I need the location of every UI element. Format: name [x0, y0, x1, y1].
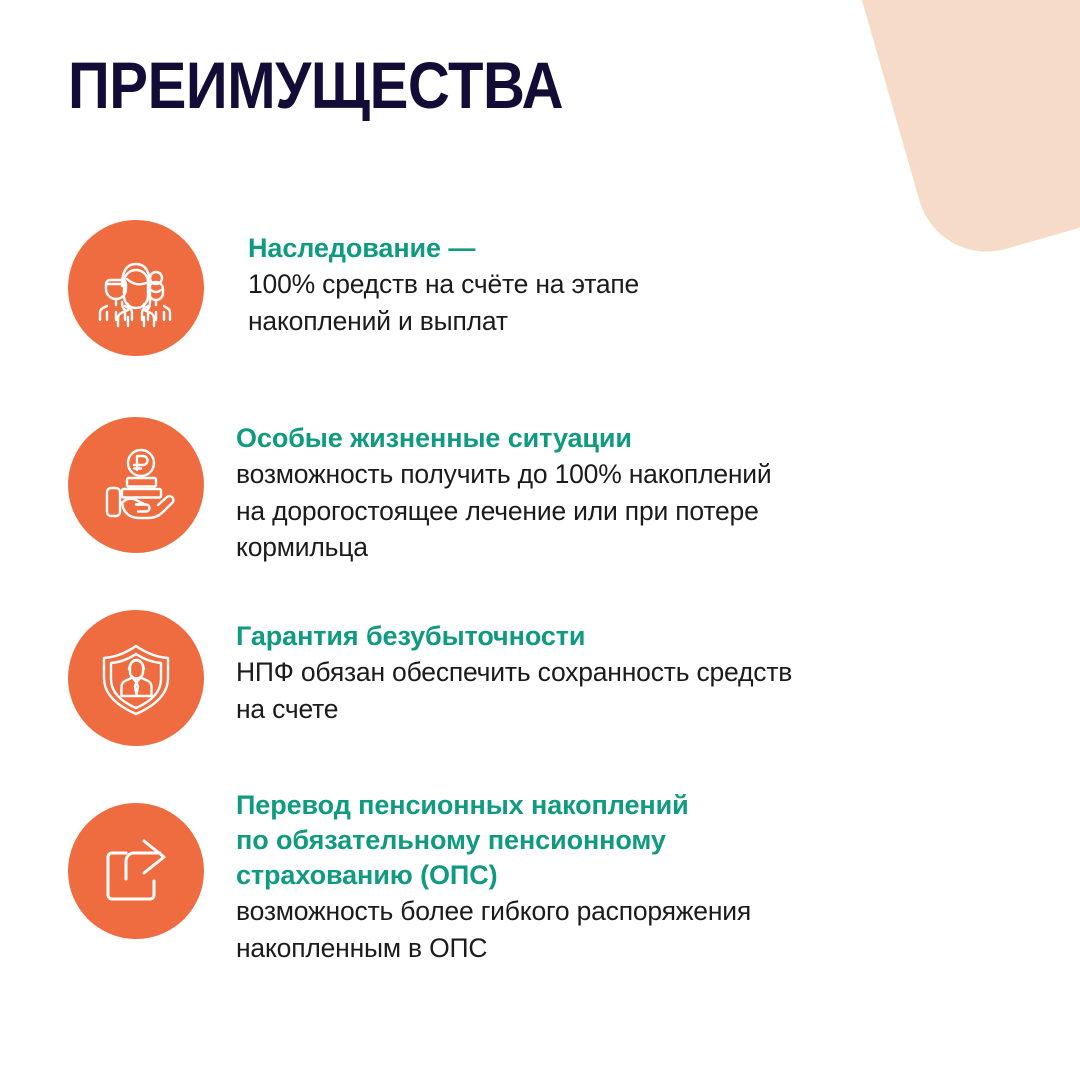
- benefit-text-transfer: Перевод пенсионных накоплений по обязате…: [236, 788, 916, 966]
- benefit-body: НПФ обязан обеспечить сохранность средст…: [236, 654, 916, 727]
- benefit-body: возможность более гибкого распоряжения н…: [236, 893, 916, 966]
- slide-canvas: ПРЕИМУЩЕСТВА: [0, 0, 1080, 1080]
- hand-holding-ruble-coins-icon: [68, 417, 204, 553]
- peach-rounded-shape: [834, 0, 1080, 268]
- export-arrow-icon: [68, 803, 204, 939]
- benefit-text-special-situations: Особые жизненные ситуации возможность по…: [236, 421, 916, 566]
- benefit-heading: Особые жизненные ситуации: [236, 421, 916, 456]
- benefit-heading: Наследование —: [248, 231, 868, 266]
- benefit-heading: Гарантия безубыточности: [236, 619, 916, 654]
- benefit-text-inheritance: Наследование — 100% средств на счёте на …: [248, 231, 868, 339]
- page-title: ПРЕИМУЩЕСТВА: [68, 52, 563, 118]
- family-group-icon: [68, 220, 204, 356]
- benefit-body: 100% средств на счёте на этапе накоплени…: [248, 266, 868, 339]
- benefit-heading: Перевод пенсионных накоплений по обязате…: [236, 788, 916, 893]
- shield-person-icon: [68, 610, 204, 746]
- benefit-body: возможность получить до 100% накоплений …: [236, 456, 916, 566]
- benefit-text-guarantee: Гарантия безубыточности НПФ обязан обесп…: [236, 619, 916, 727]
